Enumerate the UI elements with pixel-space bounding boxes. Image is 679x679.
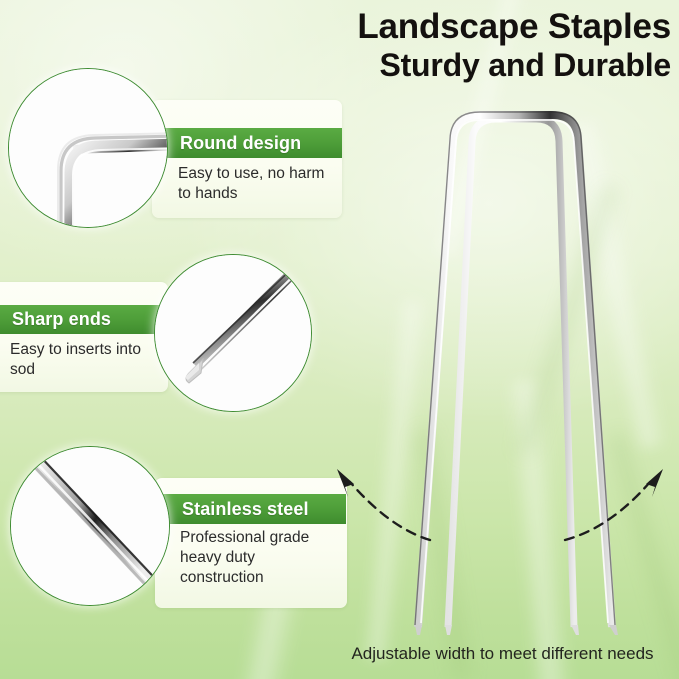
zoom-circle-sharp-ends xyxy=(154,254,312,412)
callout-description: Easy to inserts into sod xyxy=(10,340,160,380)
page-subtitle: Sturdy and Durable xyxy=(251,48,671,84)
curved-arrow-right-icon xyxy=(565,469,663,540)
page-title: Landscape Staples xyxy=(251,8,671,46)
curved-arrow-left-icon xyxy=(337,469,430,540)
zoom-circle-stainless-steel xyxy=(10,446,170,606)
callout-label: Sharp ends xyxy=(12,309,111,330)
callout-label: Round design xyxy=(180,133,301,154)
callout-label: Stainless steel xyxy=(182,499,309,520)
zoom-circle-round-design xyxy=(8,68,168,228)
product-infographic: Landscape Staples Sturdy and Durable Rou… xyxy=(0,0,679,679)
adjustable-width-arrows xyxy=(320,440,679,640)
steel-shaft-icon xyxy=(11,447,169,605)
product-caption: Adjustable width to meet different needs xyxy=(330,644,675,664)
pointed-rod-tip-icon xyxy=(155,255,311,411)
callout-label-bar: Sharp ends xyxy=(0,305,165,334)
rod-elbow-icon xyxy=(9,69,167,227)
header-block: Landscape Staples Sturdy and Durable xyxy=(251,8,671,84)
